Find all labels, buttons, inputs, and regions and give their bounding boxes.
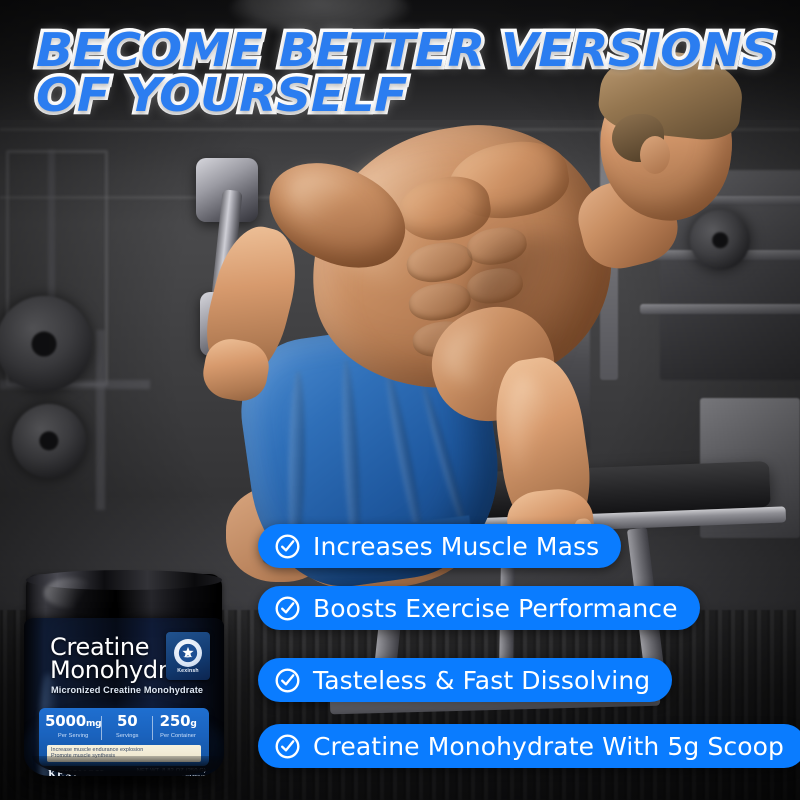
feature-label: Tasteless & Fast Dissolving [313,666,650,695]
stat-caption: Servings [102,733,152,739]
stat-per-container: 250g Per Container [153,713,203,739]
stat-servings: 50 Servings [102,713,152,739]
jar-body: Creatine Monohydrate Micronized Creatine… [24,618,224,776]
feature-pill-2[interactable]: Boosts Exercise Performance [258,586,700,630]
stat-unit: g [190,719,196,729]
feature-pill-1[interactable]: Increases Muscle Mass [258,524,621,568]
stat-unit: mg [86,719,101,729]
feature-pill-4[interactable]: Creatine Monohydrate With 5g Scoop [258,724,800,768]
stat-caption: Per Container [153,733,203,739]
circle-check-icon [274,595,301,622]
product-subtitle: Micronized Creatine Monohydrate [51,685,221,695]
feature-label: Creatine Monohydrate With 5g Scoop [313,732,784,761]
stat-value: 250 [160,712,191,730]
headline: BECOME BETTER VERSIONS OF YOURSELF [36,28,799,118]
product-jar[interactable]: Creatine Monohydrate Micronized Creatine… [18,566,230,788]
circle-check-icon [274,667,301,694]
stat-value: 50 [117,712,137,730]
circle-check-icon [274,733,301,760]
feature-label: Increases Muscle Mass [313,532,599,561]
brand-badge: Kexinsh [166,632,210,680]
feature-label: Boosts Exercise Performance [313,594,678,623]
stat-value: 5000 [45,712,86,730]
advertisement-banner: BECOME BETTER VERSIONS OF YOURSELF Incre… [0,0,800,800]
circle-check-icon [274,533,301,560]
stat-per-serving: 5000mg Per Serving [45,713,101,739]
athlete-figure [170,40,800,600]
star-emblem-icon [174,639,202,667]
feature-pill-3[interactable]: Tasteless & Fast Dissolving [258,658,672,702]
stat-caption: Per Serving [45,733,101,739]
claim-1: Increase muscle endurance explosion [51,747,197,754]
headline-line-2: OF YOURSELF [36,73,799,118]
badge-brand-name: Kexinsh [177,668,199,674]
